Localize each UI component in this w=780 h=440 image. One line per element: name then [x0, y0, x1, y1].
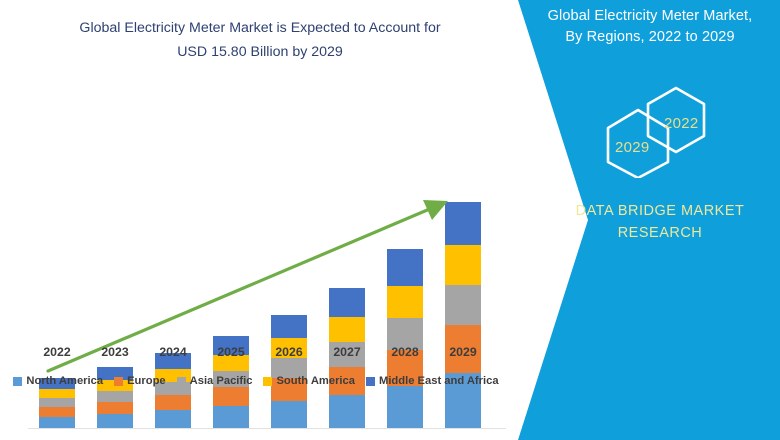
bar-segment[interactable] — [387, 249, 423, 286]
x-axis-tick-2024: 2024 — [143, 345, 203, 359]
chart-baseline — [28, 428, 506, 429]
chart-title-line-1: Global Electricity Meter Market is Expec… — [20, 16, 500, 40]
bar-segment[interactable] — [329, 288, 365, 317]
bar-segment[interactable] — [445, 245, 481, 285]
legend-label: Asia Pacific — [190, 375, 253, 387]
x-axis-tick-2027: 2027 — [317, 345, 377, 359]
bar-2026[interactable] — [271, 315, 307, 428]
bar-segment[interactable] — [213, 387, 249, 406]
chart-legend: North AmericaEuropeAsia PacificSouth Ame… — [0, 375, 512, 387]
legend-label: Middle East and Africa — [379, 375, 499, 387]
legend-swatch-icon — [366, 377, 375, 386]
x-axis-tick-2028: 2028 — [375, 345, 435, 359]
x-axis-tick-2025: 2025 — [201, 345, 261, 359]
bar-2028[interactable] — [387, 249, 423, 428]
infographic-page: Global Electricity Meter Market, By Regi… — [0, 0, 780, 440]
brand-name: DATA BRIDGE MARKET RESEARCH — [540, 200, 780, 244]
panel-title-line-1: Global Electricity Meter Market, — [520, 6, 780, 27]
x-axis-tick-2026: 2026 — [259, 345, 319, 359]
hexagon-2022-label: 2022 — [664, 115, 699, 132]
legend-label: North America — [26, 375, 103, 387]
bar-segment[interactable] — [97, 414, 133, 428]
x-axis-tick-2023: 2023 — [85, 345, 145, 359]
panel-title: Global Electricity Meter Market, By Regi… — [520, 6, 780, 48]
legend-item[interactable]: Middle East and Africa — [366, 375, 499, 387]
legend-label: Europe — [127, 375, 166, 387]
bar-segment[interactable] — [387, 386, 423, 428]
bar-segment[interactable] — [329, 317, 365, 342]
bar-segment[interactable] — [39, 407, 75, 417]
legend-item[interactable]: Asia Pacific — [177, 375, 253, 387]
legend-swatch-icon — [13, 377, 22, 386]
bar-segment[interactable] — [39, 417, 75, 428]
hexagon-badges: 2022 2029 — [594, 86, 724, 178]
chart-title-line-2: USD 15.80 Billion by 2029 — [20, 40, 500, 64]
bar-segment[interactable] — [155, 395, 191, 410]
x-axis-tick-2029: 2029 — [433, 345, 493, 359]
bar-segment[interactable] — [39, 389, 75, 398]
bar-2029[interactable] — [445, 202, 481, 428]
bar-segment[interactable] — [155, 410, 191, 428]
bar-segment[interactable] — [445, 202, 481, 245]
bar-segment[interactable] — [213, 406, 249, 428]
bar-segment[interactable] — [271, 315, 307, 338]
hexagon-2029-label: 2029 — [615, 139, 650, 156]
bar-segment[interactable] — [97, 391, 133, 402]
legend-label: South America — [276, 375, 355, 387]
chart-title: Global Electricity Meter Market is Expec… — [20, 16, 500, 64]
bar-segment[interactable] — [271, 401, 307, 428]
bar-segment[interactable] — [329, 395, 365, 428]
bar-segment[interactable] — [387, 286, 423, 318]
bar-segment[interactable] — [97, 402, 133, 414]
legend-swatch-icon — [114, 377, 123, 386]
legend-item[interactable]: Europe — [114, 375, 166, 387]
legend-swatch-icon — [263, 377, 272, 386]
x-axis: 20222023202420252026202720282029 — [0, 345, 512, 365]
hexagon-outline-icons — [594, 86, 724, 178]
panel-title-line-2: By Regions, 2022 to 2029 — [520, 27, 780, 48]
legend-item[interactable]: South America — [263, 375, 355, 387]
stacked-bar-chart — [0, 90, 512, 339]
brand-line-1: DATA BRIDGE MARKET — [540, 200, 780, 222]
bar-segment[interactable] — [39, 398, 75, 407]
brand-line-2: RESEARCH — [540, 222, 780, 244]
legend-item[interactable]: North America — [13, 375, 103, 387]
legend-swatch-icon — [177, 377, 186, 386]
bar-segment[interactable] — [445, 285, 481, 325]
x-axis-tick-2022: 2022 — [27, 345, 87, 359]
